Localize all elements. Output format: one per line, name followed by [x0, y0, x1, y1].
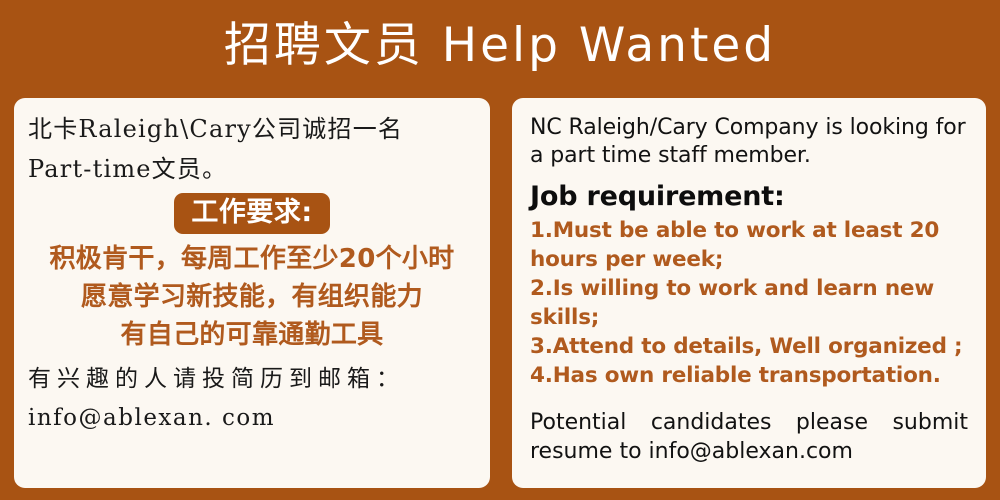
help-wanted-poster: 招聘文员 Help Wanted 北卡Raleigh\Cary公司诚招一名 Pa… [0, 0, 1000, 500]
english-requirement-3: 3.Attend to details, Well organized ; [530, 332, 968, 361]
chinese-requirement-2: 愿意学习新技能，有组织能力 [28, 278, 476, 316]
chinese-contact-label: 有兴趣的人请投简历到邮箱： [28, 358, 476, 400]
chinese-requirement-1: 积极肯干，每周工作至少20个小时 [28, 240, 476, 278]
english-footer: Potential candidates please submit resum… [530, 408, 968, 466]
english-footer-line-1: Potential candidates please submit [530, 408, 968, 437]
english-intro: NC Raleigh/Cary Company is looking for a… [530, 114, 968, 170]
job-requirement-badge: 工作要求: [174, 193, 329, 234]
chinese-intro-line-1: 北卡Raleigh\Cary公司诚招一名 [28, 110, 476, 149]
job-requirement-badge-row: 工作要求: [28, 193, 476, 234]
english-requirement-1: 1.Must be able to work at least 20 hours… [530, 216, 968, 274]
chinese-info-panel: 北卡Raleigh\Cary公司诚招一名 Part-time文员。 工作要求: … [14, 98, 490, 488]
english-info-panel: NC Raleigh/Cary Company is looking for a… [512, 98, 986, 488]
chinese-intro-line-2: Part-time文员。 [28, 149, 476, 189]
job-requirement-heading: Job requirement: [530, 178, 968, 216]
english-footer-line-2: resume to info@ablexan.com [530, 437, 968, 466]
english-requirement-4: 4.Has own reliable transportation. [530, 361, 968, 390]
chinese-contact-email: info@ablexan. com [28, 400, 476, 436]
poster-title-bar: 招聘文员 Help Wanted [0, 0, 1000, 92]
poster-title: 招聘文员 Help Wanted [224, 20, 776, 72]
chinese-requirement-3: 有自己的可靠通勤工具 [28, 316, 476, 354]
english-requirement-2: 2.Is willing to work and learn new skill… [530, 274, 968, 332]
